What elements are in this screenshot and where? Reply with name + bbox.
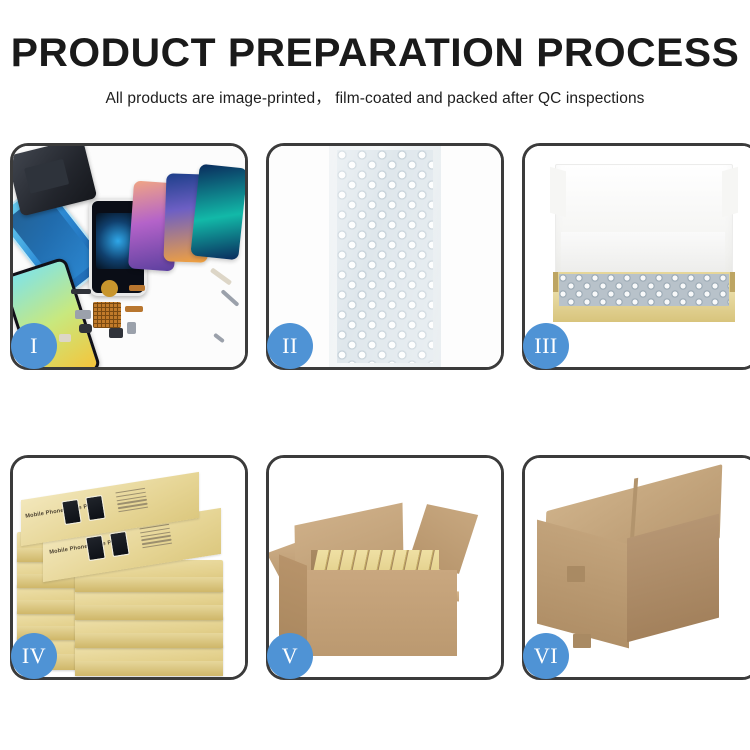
camera-module-part: [79, 324, 92, 333]
header: PRODUCT PREPARATION PROCESS All products…: [0, 0, 750, 108]
foam-layer: [561, 232, 725, 276]
stacked-box-right-3: [75, 588, 223, 620]
vibrator-part: [101, 280, 118, 297]
carton-body-open: [305, 570, 457, 656]
stacked-box-right-5: [75, 644, 223, 676]
small-bracket-part: [59, 334, 71, 342]
sim-tray-part: [75, 310, 91, 319]
box-spec-lines-2: [139, 524, 172, 551]
box-screen-image-1a: [61, 499, 82, 525]
volume-flex-part: [125, 306, 143, 312]
carton-tab-upper: [567, 566, 585, 582]
battery-connector-part: [127, 322, 136, 334]
step-card-5: V: [266, 455, 504, 680]
step-card-3: III: [522, 143, 750, 370]
flex-cable-part: [71, 289, 91, 294]
phone-back-housing: [13, 146, 97, 217]
step-card-6: VI: [522, 455, 750, 680]
screwdriver-part: [220, 289, 239, 307]
button-flex-part: [129, 285, 145, 291]
box-screen-image-2b: [109, 531, 130, 557]
screw-set-part: [213, 333, 225, 344]
product-preparation-infographic: PRODUCT PREPARATION PROCESS All products…: [0, 0, 750, 750]
step-card-1: I: [10, 143, 248, 370]
page-subtitle: All products are image-printed， film-coa…: [0, 86, 750, 108]
box-screen-image-2a: [85, 535, 106, 561]
chip-array-part: [93, 302, 121, 328]
step-badge-4: IV: [11, 633, 57, 679]
box-spec-lines-1: [115, 488, 148, 515]
step-badge-5: V: [267, 633, 313, 679]
stacked-box-right-4: [75, 616, 223, 648]
step-badge-2: II: [267, 323, 313, 369]
step-badge-1: I: [11, 323, 57, 369]
bubble-wrapped-contents: [559, 274, 729, 306]
tweezers-part: [210, 267, 232, 285]
teal-phone: [190, 164, 245, 261]
bubble-wrap-bag: [329, 146, 441, 367]
bubble-texture: [337, 150, 433, 363]
page-title: PRODUCT PREPARATION PROCESS: [0, 32, 750, 74]
step-card-2: II: [266, 143, 504, 370]
carton-tab-lower: [573, 634, 591, 648]
step-badge-6: VI: [523, 633, 569, 679]
box-screen-image-1b: [85, 495, 106, 521]
step-badge-3: III: [523, 323, 569, 369]
step-card-4: Mobile Phone Spare Parts Mobile Phone Sp…: [10, 455, 248, 680]
process-steps-grid: I II: [10, 143, 740, 680]
speaker-part: [109, 328, 123, 338]
